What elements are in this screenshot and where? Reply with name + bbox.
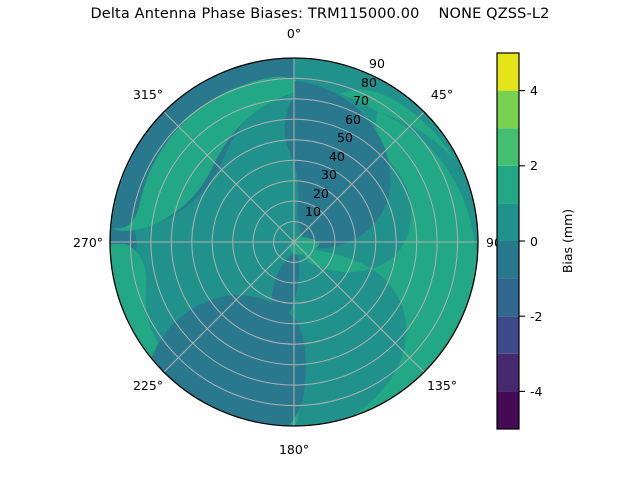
radial-tick-20: 20 [313,186,329,201]
angular-tick-180: 180° [279,442,309,457]
colorbar-swatch-7 [497,128,519,166]
colorbar-swatch-8 [497,91,519,129]
angular-tick-45: 45° [431,87,453,102]
colorbar-swatch-9 [497,53,519,91]
colorbar-swatch-1 [497,354,519,392]
colorbar-tick-label-zero: 0 [530,234,538,249]
angular-tick-225: 225° [133,378,163,393]
radial-tick-80: 80 [361,75,377,90]
angular-tick-270: 270° [73,235,103,250]
colorbar-swatch-5 [497,203,519,241]
colorbar-swatches [497,53,519,429]
angular-tick-0: 0° [287,26,301,41]
figure-canvas: Delta Antenna Phase Biases: TRM115000.00… [0,0,640,480]
colorbar-tick-label-minus4: -4 [530,384,543,399]
contour-fill-group [110,58,478,452]
polar-chart-svg: 0° 45° 90 135° 180° 225° 270° 315° 10 20… [0,0,640,480]
angular-tick-315: 315° [133,87,163,102]
colorbar-swatch-2 [497,316,519,354]
colorbar-tick-label-4: 4 [530,83,538,98]
radial-tick-30: 30 [321,167,337,182]
angular-gridlines [110,58,478,426]
colorbar-axis-label: Bias (mm) [560,209,575,273]
colorbar-swatch-4 [497,241,519,279]
radial-tick-90: 90 [369,56,385,71]
colorbar-swatch-3 [497,279,519,317]
colorbar-ticks [519,91,525,392]
radial-tick-10: 10 [305,204,321,219]
angular-tick-135: 135° [427,378,457,393]
radial-tick-70: 70 [353,93,369,108]
colorbar-tick-label-2: 2 [530,158,538,173]
radial-tick-60: 60 [345,112,361,127]
radial-tick-50: 50 [337,130,353,145]
colorbar-swatch-6 [497,166,519,204]
radial-tick-40: 40 [329,149,345,164]
colorbar-swatch-0 [497,391,519,429]
colorbar-tick-label-minus2: -2 [530,309,542,324]
colorbar[interactable]: -4 -2 0 2 4 Bias (mm) [497,53,575,429]
